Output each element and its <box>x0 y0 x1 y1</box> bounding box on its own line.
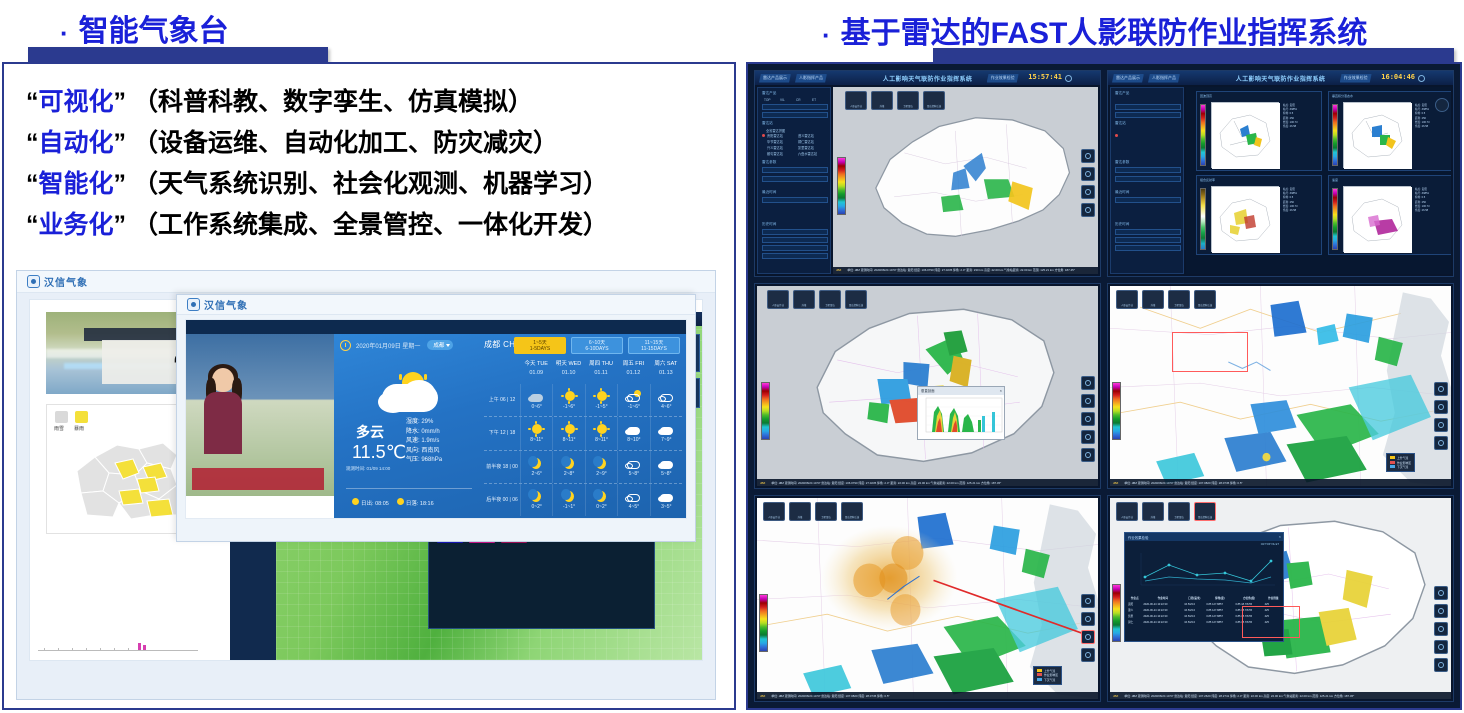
param-elevation-select[interactable] <box>762 176 828 182</box>
tool-cloud-seeding[interactable]: 人影云作业 <box>1116 502 1138 521</box>
station-radio-selected[interactable] <box>1115 134 1118 137</box>
weather-forecast-card: 2020年01月09日 星期一 成都 成都 CHENGDU 1~5天 1-5DA… <box>334 334 686 518</box>
current-metrics: 湿度: 29% 降水: 0mm/h 风速: 1.9m/s 风向: <box>406 418 442 466</box>
column-date: 01.10 <box>552 369 584 378</box>
weather-window-titlebar: 汉信气象 <box>177 295 695 315</box>
tool-label: 卫星雷达 <box>898 104 918 108</box>
metric-value: 0mm/h <box>421 429 439 435</box>
metric-name: 气压: <box>406 457 420 463</box>
status-text: 单位: dBZ 观测时间: 2020/06/24 10:57 雷达站: 贵阳 经… <box>847 268 1075 272</box>
bullet-detail: （工作系统集成、全景管控、一体化开发） <box>133 211 608 239</box>
start-time-field[interactable] <box>762 104 828 110</box>
radar-panel-regional: 人影云作业 外推 卫星雷达 雷达资料反演 上升气流 作业影响区 下沉气流 dBZ… <box>1107 283 1454 490</box>
forecast-row: 下午 12 | 188~11°8~11°8~11°8~10°7~9° <box>484 416 682 449</box>
sunset-label: 日落: <box>406 501 419 507</box>
legend-swatch-updraft <box>1037 669 1042 672</box>
btn-select-area[interactable] <box>1081 430 1095 444</box>
province-outline-svg <box>833 87 1098 274</box>
quad-colorbar <box>1332 104 1338 166</box>
legend-label: 上升气流 <box>1397 456 1408 460</box>
legend-swatch-downdraft <box>1390 465 1395 468</box>
sidebar-section-title: 历史时间 <box>762 222 828 227</box>
sidebar-section-title: 最近时间 <box>762 190 828 195</box>
param-field-1[interactable] <box>762 167 828 173</box>
radar-row-1: 雷达产品展示 人影指挥产品 人工影响天气联防作业指挥系统 作业效果检验 15:5… <box>754 70 1454 277</box>
tab-seeding-products[interactable]: 人影指挥产品 <box>795 74 827 83</box>
station-option-kaili[interactable]: 凯里雷达站 <box>798 145 814 150</box>
forecast-temp: 7~9° <box>661 437 671 443</box>
cloud-icon <box>658 423 675 436</box>
system-clock: 16:04:46 <box>1381 73 1415 81</box>
history-time-item[interactable] <box>1115 237 1181 243</box>
vertical-profile-popup[interactable]: 垂直剖面 × <box>917 386 1005 440</box>
tool-satellite-radar[interactable]: 卫星雷达 <box>897 91 919 110</box>
btn-measure-distance[interactable] <box>1434 586 1448 600</box>
forecast-period-label: 后半夜 00 | 06 <box>484 484 520 516</box>
tool-label: 雷达资料反演 <box>1195 303 1215 307</box>
tool-satellite-radar[interactable]: 卫星雷达 <box>1168 502 1190 521</box>
icon-glyph <box>1085 207 1091 213</box>
icon-glyph <box>1438 608 1444 614</box>
list-item: “自动化” （设备运维、自动化加工、防灾减灾） <box>26 123 716 164</box>
latest-time-item[interactable] <box>762 197 828 203</box>
btn-select-area[interactable] <box>1434 640 1448 654</box>
page-title-right-text: 基于雷达的FAST人影联防作业指挥系统 <box>841 17 1368 50</box>
forecast-cell: 8~11° <box>520 417 552 449</box>
btn-measure-distance[interactable] <box>1081 594 1095 608</box>
radar-panel-seeding: 人影云作业 外推 卫星雷达 雷达资料反演 上升气流 作业影响区 下沉气流 dBZ… <box>754 495 1101 702</box>
forecast-cell: 7~9° <box>650 417 682 449</box>
tool-label: 外推 <box>790 515 810 519</box>
divider <box>346 488 472 489</box>
quad-field: 纬度: 26.58 <box>1283 209 1298 213</box>
btn-locate[interactable] <box>1081 612 1095 626</box>
weather-app-topstrip <box>186 320 686 334</box>
tool-label: 雷达资料反演 <box>924 104 944 108</box>
legend-entry: TOP <box>1265 543 1270 546</box>
forecast-period-label: 前半夜 18 | 00 <box>484 451 520 483</box>
metric-value: 968hPa <box>421 457 442 463</box>
tool-cloud-seeding[interactable]: 人影云作业 <box>767 290 789 309</box>
forecast-cell: 8~10° <box>617 417 649 449</box>
radar-colorbar <box>1112 382 1121 440</box>
quad-refresh-button[interactable] <box>1435 98 1449 112</box>
column-day: 今天 TUE <box>520 360 552 369</box>
system-title: 人工影响天气联防作业指挥系统 <box>1236 74 1326 83</box>
forecast-cell: 0~2° <box>520 484 552 516</box>
bullet-detail: （设备运维、自动化加工、防灾减灾） <box>133 129 558 157</box>
legend-swatch-impact <box>1037 673 1042 676</box>
station-option-xingyi[interactable]: 兴义雷达站 <box>767 145 783 150</box>
station-radio-selected[interactable] <box>762 134 765 137</box>
btn-export[interactable] <box>1434 658 1448 672</box>
btn-select-area[interactable] <box>1081 203 1095 217</box>
tool-extrapolation[interactable]: 外推 <box>789 502 811 521</box>
btn-measure-distance[interactable] <box>1081 376 1095 390</box>
tool-label: 外推 <box>794 303 814 307</box>
sun-times: 日出: 08:05 日落: 18:16 <box>352 498 434 507</box>
mode-tab[interactable]: 作业效果检验 <box>1340 74 1372 83</box>
mini-timeseries-chart <box>38 640 198 654</box>
end-time-field[interactable] <box>762 112 828 118</box>
column-day: 明天 WED <box>552 360 584 369</box>
status-text: 单位: dBZ 观测时间: 2020/06/24 10:57 雷达站: 贵阳 经… <box>771 481 1001 485</box>
radar-sidebar: 雷达产品 TOP VIL CR ET 雷达站 全省雷达拼图 贵阳雷达站 遵义雷达… <box>757 87 831 274</box>
chart-tick <box>58 648 59 651</box>
forecast-temp: 2~8° <box>564 471 574 477</box>
sunrise-value: 08:05 <box>375 501 389 507</box>
tool-label: 人影云作业 <box>764 515 784 519</box>
tool-radar-retrieval[interactable]: 雷达资料反演 <box>841 502 863 521</box>
tab-sublabel: 6-10DAYS <box>585 346 608 352</box>
radar-system-screenshot-grid: 雷达产品展示 人影指挥产品 人工影响天气联防作业指挥系统 作业效果检验 15:5… <box>746 62 1462 710</box>
radar-map-canvas[interactable]: 人影云作业 外推 卫星雷达 雷达资料反演 上升气流 作业影响区 下沉气流 dBZ… <box>757 498 1098 699</box>
forecast-cell: -1~6° <box>617 384 649 416</box>
quad-colorbar <box>1200 104 1206 166</box>
airflow-legend: 上升气流 作业影响区 下沉气流 <box>1033 666 1062 685</box>
radar-colorbar <box>759 594 768 652</box>
btn-locate[interactable] <box>1081 394 1095 408</box>
current-condition-text: 多云 <box>356 422 384 442</box>
latest-time-item[interactable] <box>1115 197 1181 203</box>
weather-broadcast-window: 汉信气象 2020年01月09日 星期一 成都 <box>176 294 696 542</box>
sidebar-section-title: 雷达站 <box>1115 121 1181 126</box>
forecast-temp: 0~2° <box>596 504 606 510</box>
forecast-temp: 5~8° <box>661 471 671 477</box>
moon-icon <box>528 457 545 470</box>
radar-map-canvas[interactable]: 人影云作业 外推 卫星雷达 雷达资料反演 上升气流 作业影响区 下沉气流 dBZ… <box>1110 286 1451 487</box>
start-time-field[interactable] <box>1115 104 1181 110</box>
bullet-keyword: 可视化 <box>39 88 114 116</box>
metric-row: 风速: 1.9m/s <box>406 437 442 447</box>
analysis-region-box[interactable] <box>1242 606 1300 638</box>
radar-panel-overview: 雷达产品展示 人影指挥产品 人工影响天气联防作业指挥系统 作业效果检验 15:5… <box>754 70 1101 277</box>
btn-export[interactable] <box>1081 448 1095 462</box>
quad-title: 组合反射率 <box>1197 176 1321 183</box>
btn-measure-distance[interactable] <box>1434 382 1448 396</box>
icon-glyph <box>1085 171 1091 177</box>
end-time-field[interactable] <box>1115 112 1181 118</box>
tool-label: 卫星雷达 <box>1169 303 1189 307</box>
tool-extrapolation[interactable]: 外推 <box>1142 290 1164 309</box>
status-bar: dBZ 单位: dBZ 观测时间: 2020/06/24 10:57 雷达站: … <box>1110 479 1451 486</box>
timeseries-chart-svg <box>1125 547 1285 593</box>
radar-header: 雷达产品展示 人影指挥产品 人工影响天气联防作业指挥系统 作业效果检验 15:5… <box>755 71 1100 85</box>
forecast-cell: 0~6° <box>520 384 552 416</box>
sunny-icon <box>561 390 578 403</box>
sunny-icon <box>528 423 545 436</box>
tool-label: 卫星雷达 <box>1169 515 1189 519</box>
quote-open: “ <box>26 88 39 116</box>
legend-label: 作业影响区 <box>1397 461 1411 465</box>
icon-glyph <box>1085 634 1091 640</box>
status-unit: dBZ <box>1113 694 1118 698</box>
chart-tick <box>128 648 129 651</box>
radar-map-canvas[interactable]: 人影云作业 外推 卫星雷达 雷达资料反演 作业效果检验 × CR TOP VIL… <box>1110 498 1451 699</box>
btn-locate[interactable] <box>1081 167 1095 181</box>
cloudy-icon <box>528 390 545 403</box>
chart-tick <box>100 648 101 651</box>
sun-ray <box>424 374 427 380</box>
btn-zoom[interactable] <box>1434 418 1448 432</box>
brand-name: 汉信气象 <box>44 274 88 289</box>
forecast-row: 后半夜 00 | 060~2°-1~1°0~2°4~5°3~5° <box>484 483 682 516</box>
btn-zoom[interactable] <box>1081 412 1095 426</box>
btn-zoom-selected[interactable] <box>1081 630 1095 644</box>
sunset-icon <box>397 498 404 505</box>
station-option-zunyi[interactable]: 遵义雷达站 <box>798 133 814 138</box>
user-avatar-icon[interactable] <box>1418 75 1425 82</box>
metric-value: 1.9m/s <box>421 438 439 444</box>
legend-swatch-impact <box>1390 461 1395 464</box>
legend-swatch-downdraft <box>1037 678 1042 681</box>
legend-entry: VIL <box>1271 543 1275 546</box>
forecast-temp: 0~6° <box>531 404 541 410</box>
forecast-temp: -1~5° <box>595 404 607 410</box>
icon-glyph <box>1085 616 1091 622</box>
current-conditions: 多云 11.5℃ 观测时间: 01/09 14:00 湿度: 29% 降水: 0… <box>334 356 484 518</box>
tool-label: 雷达资料反演 <box>846 303 866 307</box>
status-text: 单位: dBZ 观测时间: 2020/06/24 10:57 雷达站: 贵阳 经… <box>1124 481 1242 485</box>
forecast-temp: 8~11° <box>595 437 608 443</box>
tab-radar-products[interactable]: 雷达产品展示 <box>759 74 791 83</box>
forecast-temp: -1~6° <box>563 404 575 410</box>
tool-radar-retrieval-selected[interactable]: 雷达资料反演 <box>1194 502 1216 521</box>
radar-sidebar: 雷达产品 雷达站 雷达参数 最近时间 历史时间 <box>1110 87 1184 274</box>
cloud-icon <box>658 457 675 470</box>
station-option-duyun[interactable]: 都匀雷达站 <box>767 151 783 156</box>
radar-panel-effect-verification: 人影云作业 外推 卫星雷达 雷达资料反演 作业效果检验 × CR TOP VIL… <box>1107 495 1454 702</box>
page-title-right: ·基于雷达的FAST人影联防作业指挥系统 <box>822 8 1367 52</box>
tab-sublabel: 1-5DAYS <box>530 346 550 352</box>
radar-map-canvas[interactable]: 人影云作业 外推 卫星雷达 雷达资料反演 垂直剖面 × <box>757 286 1098 487</box>
btn-locate[interactable] <box>1434 400 1448 414</box>
radar-colorbar <box>761 382 770 440</box>
quad-info: 站点: 贵阳 站号: Z9851 仰角: 0.5 距离: 250 经度: 106… <box>1415 188 1430 213</box>
quad-info: 站点: 贵阳 站号: Z9851 仰角: 0.5 距离: 250 经度: 106… <box>1283 104 1298 129</box>
outline-icon <box>658 390 675 403</box>
day-range-tabs: 1~5天 1-5DAYS 6~10天 6-10DAYS 11~15天 11-15… <box>514 337 680 354</box>
moon-icon <box>593 457 610 470</box>
forecast-row: 上午 06 | 120~6°-1~6°-1~5°-1~6°4~6° <box>484 384 682 416</box>
tab-sublabel: 11-15DAYS <box>641 346 667 352</box>
forecast-cell: 0~2° <box>585 484 617 516</box>
analysis-region-box[interactable] <box>1172 332 1248 372</box>
metric-name: 风速: <box>406 438 420 444</box>
close-icon[interactable]: × <box>1279 534 1281 539</box>
tab-seeding-products[interactable]: 人影指挥产品 <box>1148 74 1180 83</box>
column-header: 周四 THU 01.11 <box>585 360 617 382</box>
status-bar: dBZ 单位: dBZ 观测时间: 2020/06/24 10:57 雷达站: … <box>833 267 1098 274</box>
status-bar: dBZ 单位: dBZ 观测时间: 2020/06/24 10:57 雷达站: … <box>757 479 1098 486</box>
legend-entry: ET <box>1276 543 1279 546</box>
tool-label: 卫星雷达 <box>816 515 836 519</box>
mode-tab[interactable]: 作业效果检验 <box>987 74 1019 83</box>
quad-field: 纬度: 26.58 <box>1415 209 1430 213</box>
column-header: 明天 WED 01.10 <box>552 360 584 382</box>
sunrise-group: 日出: 08:05 <box>352 498 389 507</box>
moon-icon <box>593 490 610 503</box>
btn-select-area[interactable] <box>1434 436 1448 450</box>
forecast-temp: 8~11° <box>530 437 543 443</box>
radar-map-canvas[interactable]: 人影云作业 外推 卫星雷达 雷达资料反演 dBZ 单位: dBZ 观测时间: 2… <box>833 87 1098 274</box>
bullet-dot-right: · <box>822 20 831 51</box>
radar-row-3: 人影云作业 外推 卫星雷达 雷达资料反演 上升气流 作业影响区 下沉气流 dBZ… <box>754 495 1454 702</box>
forecast-cell: 8~11° <box>552 417 584 449</box>
btn-select-area[interactable] <box>1081 648 1095 662</box>
quote-close: ” <box>114 170 127 198</box>
icon-glyph <box>1085 189 1091 195</box>
tool-satellite-radar[interactable]: 卫星雷达 <box>815 502 837 521</box>
column-date: 01.12 <box>617 369 649 378</box>
column-header: 周五 FRI 01.12 <box>617 360 649 382</box>
param-elevation-select[interactable] <box>1115 176 1181 182</box>
sidebar-section-title: 历史时间 <box>1115 222 1181 227</box>
history-time-item[interactable] <box>1115 229 1181 235</box>
quad-map-svg <box>1212 187 1280 253</box>
tool-extrapolation[interactable]: 外推 <box>871 91 893 110</box>
quad-colorbar <box>1332 188 1338 250</box>
current-temperature: 11.5℃ <box>352 442 406 463</box>
forecast-period-label: 下午 12 | 18 <box>484 417 520 449</box>
product-type-vil[interactable]: VIL <box>780 98 785 102</box>
tool-cloud-seeding[interactable]: 人影云作业 <box>845 91 867 110</box>
history-time-item[interactable] <box>762 237 828 243</box>
metric-value: 29% <box>421 419 433 425</box>
quad-title: 速度 <box>1329 176 1451 183</box>
quad-field: 纬度: 26.58 <box>1283 125 1298 129</box>
column-day: 周四 THU <box>585 360 617 369</box>
system-clock: 15:57:41 <box>1028 73 1062 81</box>
icon-glyph <box>1438 626 1444 632</box>
quad-cell-velocity[interactable]: 速度 站点: 贵阳 站 <box>1328 175 1451 255</box>
forecast-temp: 0~2° <box>531 504 541 510</box>
tool-label: 人影云作业 <box>846 104 866 108</box>
btn-zoom[interactable] <box>1081 185 1095 199</box>
chart-bar <box>138 643 141 650</box>
sidebar-section-title: 最近时间 <box>1115 190 1181 195</box>
quad-cell-vil[interactable]: 垂直积分液态水 <box>1328 91 1451 171</box>
tool-cloud-seeding[interactable]: 人影云作业 <box>763 502 785 521</box>
radar-header: 雷达产品展示 人影指挥产品 人工影响天气联防作业指挥系统 作业效果检验 16:0… <box>1108 71 1453 85</box>
history-time-item[interactable] <box>762 245 828 251</box>
forecast-grid: 上午 06 | 120~6°-1~6°-1~5°-1~6°4~6°下午 12 |… <box>484 384 682 516</box>
bullet-detail: （科普科教、数字孪生、仿真模拟） <box>133 88 533 116</box>
page-title-left: ·智能气象台 <box>60 6 229 50</box>
sun-ray <box>399 374 402 380</box>
tool-label: 雷达资料反演 <box>842 515 862 519</box>
avatar-body <box>204 392 242 454</box>
close-icon[interactable]: × <box>1000 388 1002 393</box>
quad-field: 纬度: 26.58 <box>1415 125 1430 129</box>
forecast-cell: 4~6° <box>650 384 682 416</box>
product-type-top[interactable]: TOP <box>764 98 771 102</box>
product-type-et[interactable]: ET <box>812 98 816 102</box>
btn-locate[interactable] <box>1434 604 1448 618</box>
sidebar-section-title: 雷达参数 <box>762 160 828 165</box>
moon-icon <box>561 490 578 503</box>
tool-radar-retrieval[interactable]: 雷达资料反演 <box>923 91 945 110</box>
forecast-temp: 4~6° <box>661 404 671 410</box>
chart-axis <box>38 650 198 651</box>
product-type-cr[interactable]: CR <box>796 98 801 102</box>
icon-glyph <box>1085 153 1091 159</box>
sunrise-label: 日出: <box>361 501 374 507</box>
metric-value: 西南风 <box>421 448 439 454</box>
tab-11-15-days[interactable]: 11~15天 11-15DAYS <box>628 337 680 354</box>
popup-title: 作业效果检验 <box>1125 533 1283 541</box>
quad-cell-echotop[interactable]: 回波顶高 <box>1196 91 1322 171</box>
icon-glyph <box>1085 416 1091 422</box>
tool-radar-retrieval[interactable]: 雷达资料反演 <box>1194 290 1216 309</box>
status-unit: dBZ <box>760 694 765 698</box>
icon-glyph <box>1438 422 1444 428</box>
btn-measure-distance[interactable] <box>1081 149 1095 163</box>
icon-glyph <box>1438 590 1444 596</box>
history-time-item[interactable] <box>762 229 828 235</box>
brand-logo-icon <box>27 275 40 288</box>
bullet-dot-left: · <box>60 18 69 49</box>
forecast-cell: -1~5° <box>585 384 617 416</box>
tool-satellite-radar[interactable]: 卫星雷达 <box>1168 290 1190 309</box>
tool-satellite-radar[interactable]: 卫星雷达 <box>819 290 841 309</box>
tab-6-10-days[interactable]: 6~10天 6-10DAYS <box>571 337 623 354</box>
quote-close: ” <box>114 211 127 239</box>
bullet-keyword: 自动化 <box>39 129 114 157</box>
history-time-item[interactable] <box>1115 245 1181 251</box>
station-option-bijie[interactable]: 毕节雷达站 <box>767 139 783 144</box>
forecast-datetime: 2020年01月09日 星期一 <box>356 341 420 350</box>
left-content-card: “可视化” （科普科教、数字孪生、仿真模拟） “自动化” （设备运维、自动化加工… <box>2 62 736 710</box>
cloud-part <box>402 380 436 410</box>
sunrise-icon <box>352 498 359 505</box>
station-option-liupanshui[interactable]: 六盘水雷达站 <box>798 151 817 156</box>
tab-1-5-days[interactable]: 1~5天 1-5DAYS <box>514 337 566 354</box>
metric-row: 湿度: 29% <box>406 418 442 428</box>
tool-radar-retrieval[interactable]: 雷达资料反演 <box>845 290 867 309</box>
forecast-temp: 2~9° <box>596 471 606 477</box>
tab-radar-products[interactable]: 雷达产品展示 <box>1112 74 1144 83</box>
sunny-icon <box>561 423 578 436</box>
station-option-tongren[interactable]: 铜仁雷达站 <box>798 139 814 144</box>
city-selector[interactable]: 成都 <box>427 340 453 350</box>
list-item: “可视化” （科普科教、数字孪生、仿真模拟） <box>26 82 716 123</box>
user-avatar-icon[interactable] <box>1065 75 1072 82</box>
weather-window-body: 2020年01月09日 星期一 成都 成都 CHENGDU 1~5天 1-5DA… <box>185 319 687 519</box>
tool-extrapolation[interactable]: 外推 <box>1142 502 1164 521</box>
station-option-guiyang[interactable]: 贵阳雷达站 <box>767 133 783 138</box>
tool-extrapolation[interactable]: 外推 <box>793 290 815 309</box>
table-cell: 铜仁 <box>1127 619 1142 625</box>
table-cell: 2020-06-24 10:22:30 <box>1142 619 1183 625</box>
param-field-1[interactable] <box>1115 167 1181 173</box>
forecast-column-headers: 今天 TUE 01.09 明天 WED 01.10 周四 THU 01.11 <box>520 360 682 382</box>
quad-map-svg <box>1344 103 1412 169</box>
legend-swatch-rain <box>55 411 68 423</box>
history-time-item[interactable] <box>762 253 828 259</box>
btn-zoom[interactable] <box>1434 622 1448 636</box>
quad-cell-cr[interactable]: 组合反射率 <box>1196 175 1322 255</box>
metric-row: 降水: 0mm/h <box>406 428 442 438</box>
sidebar-section-title: 雷达参数 <box>1115 160 1181 165</box>
broadcast-video-thumb <box>186 334 334 496</box>
tool-cloud-seeding[interactable]: 人影云作业 <box>1116 290 1138 309</box>
legend-label: 下沉气流 <box>1044 678 1055 682</box>
chart-bar <box>143 645 146 650</box>
status-unit: dBZ <box>760 481 765 485</box>
quad-info: 站点: 贵阳 站号: Z9851 仰角: 0.5 距离: 250 经度: 106… <box>1283 188 1298 213</box>
page-title-left-text: 智能气象台 <box>79 15 229 48</box>
